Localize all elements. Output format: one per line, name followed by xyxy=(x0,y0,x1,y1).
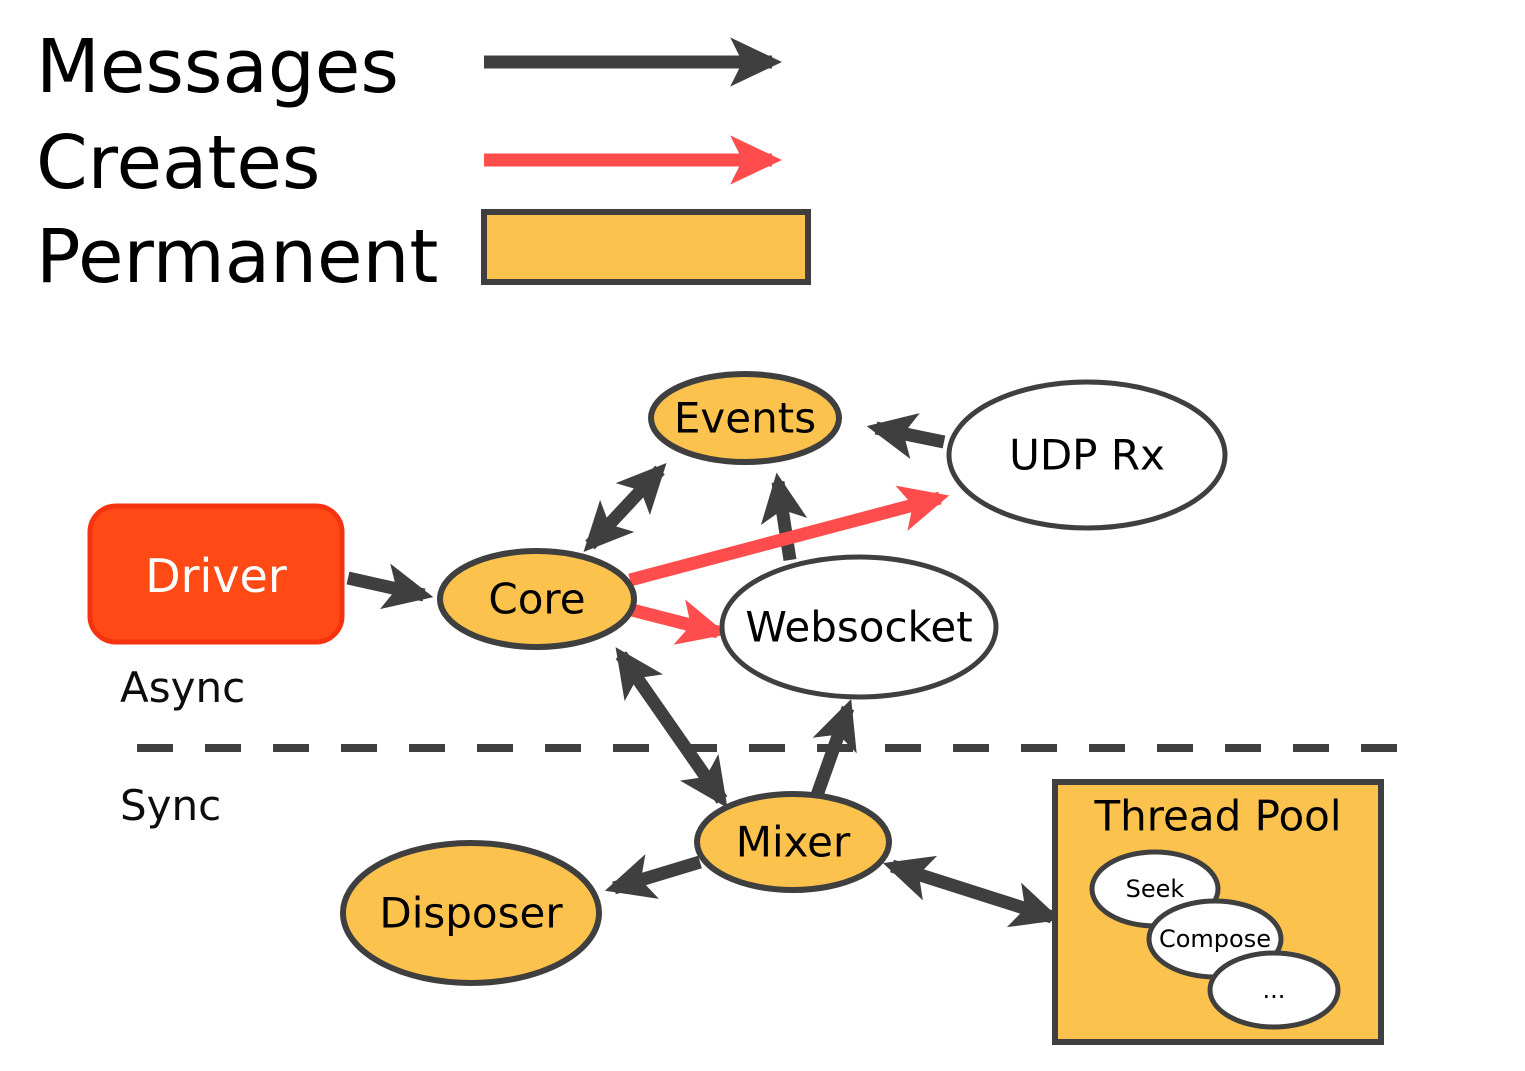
edge-core-creates-websocket xyxy=(632,610,718,632)
task-compose-label: Compose xyxy=(1159,925,1271,953)
legend-row-creates: Creates xyxy=(36,120,772,206)
architecture-diagram: Messages Creates Permanent xyxy=(0,0,1525,1071)
node-core[interactable]: Core xyxy=(440,551,634,647)
node-mixer[interactable]: Mixer xyxy=(697,794,889,890)
edge-mixer-threadpool-bidirectional xyxy=(892,866,1052,917)
node-thread-pool[interactable]: Thread Pool Seek Compose ... xyxy=(1055,782,1381,1042)
thread-pool-title: Thread Pool xyxy=(1093,792,1341,841)
edge-mixer-to-disposer xyxy=(614,862,700,888)
task-more-label: ... xyxy=(1263,976,1286,1004)
edge-core-events-bidirectional xyxy=(590,470,660,545)
edge-websocket-to-events xyxy=(778,482,790,560)
zone-label-async: Async xyxy=(120,663,245,712)
legend-label-messages: Messages xyxy=(36,24,399,110)
node-driver[interactable]: Driver xyxy=(90,506,342,642)
edge-udprx-to-events xyxy=(876,428,944,442)
legend-swatch-permanent xyxy=(484,212,808,282)
diagram-canvas: Messages Creates Permanent xyxy=(0,0,1525,1071)
events-label: Events xyxy=(674,394,816,443)
legend-label-permanent: Permanent xyxy=(36,214,438,300)
websocket-label: Websocket xyxy=(745,603,972,652)
node-disposer[interactable]: Disposer xyxy=(343,843,599,983)
node-websocket[interactable]: Websocket xyxy=(722,557,996,697)
udp-rx-label: UDP Rx xyxy=(1009,431,1165,480)
node-events[interactable]: Events xyxy=(651,374,839,462)
edge-mixer-to-websocket xyxy=(816,708,848,798)
legend-row-messages: Messages xyxy=(36,24,772,110)
task-seek-label: Seek xyxy=(1126,875,1185,903)
legend-label-creates: Creates xyxy=(36,120,320,206)
driver-label: Driver xyxy=(145,549,287,603)
disposer-label: Disposer xyxy=(379,889,563,938)
task-more[interactable]: ... xyxy=(1210,953,1338,1027)
legend: Messages Creates Permanent xyxy=(36,24,808,300)
core-label: Core xyxy=(488,575,585,624)
edge-driver-to-core xyxy=(348,578,424,595)
node-udp-rx[interactable]: UDP Rx xyxy=(949,382,1225,528)
zone-label-sync: Sync xyxy=(120,781,221,830)
legend-row-permanent: Permanent xyxy=(36,212,808,300)
nodes-layer: Driver Core Events UDP Rx Websocket xyxy=(90,374,1381,1042)
mixer-label: Mixer xyxy=(736,818,851,867)
edge-core-mixer-bidirectional xyxy=(621,655,722,800)
